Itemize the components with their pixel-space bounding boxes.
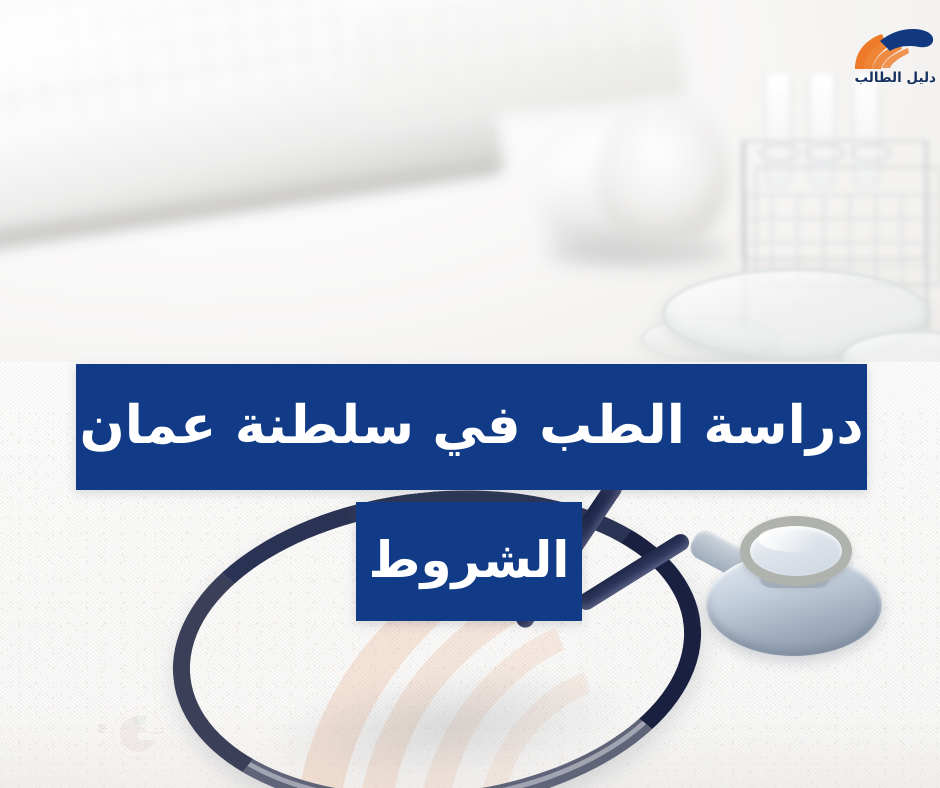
logo-text: دليل الطالب bbox=[854, 70, 936, 86]
poster-canvas: GULFGRANT.COM bbox=[0, 0, 940, 788]
white-bowl-image bbox=[598, 96, 728, 246]
primary-title-banner: دراسة الطب في سلطنة عمان bbox=[76, 364, 867, 490]
logo-swoosh-icon bbox=[846, 26, 938, 72]
site-logo[interactable]: دليل الطالب bbox=[846, 26, 938, 88]
secondary-title-banner: الشروط bbox=[356, 502, 582, 621]
rack-hole bbox=[805, 144, 845, 162]
primary-title-text: دراسة الطب في سلطنة عمان bbox=[76, 364, 867, 490]
secondary-title-text: الشروط bbox=[356, 502, 582, 621]
chestpiece-ring-highlight bbox=[758, 526, 832, 552]
rack-hole bbox=[851, 144, 891, 162]
secondary-keyboard-keys bbox=[362, 0, 667, 91]
rack-hole bbox=[759, 144, 799, 162]
